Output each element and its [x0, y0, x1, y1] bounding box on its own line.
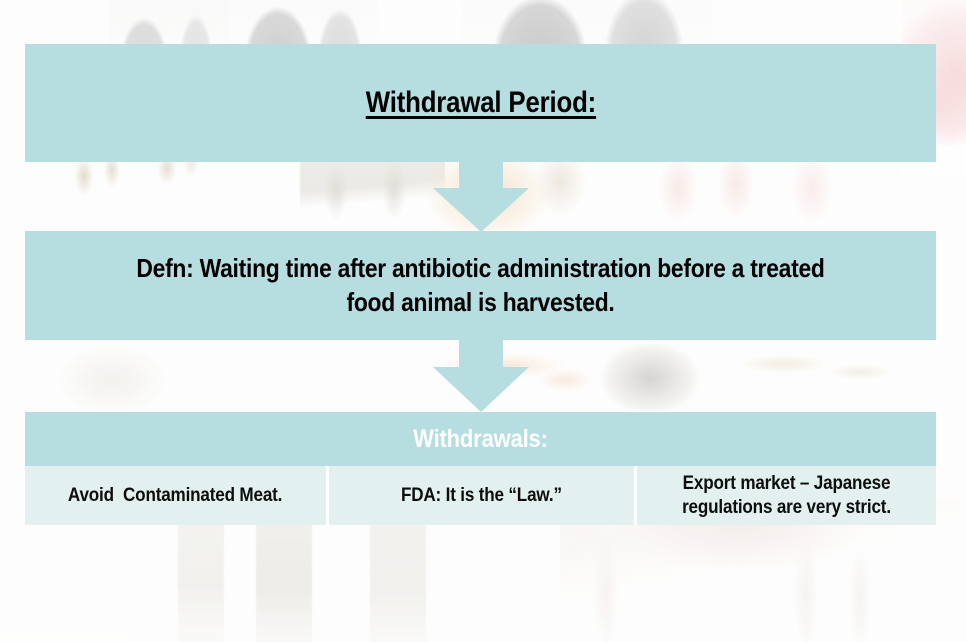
withdrawals-column-export-market: Export market – Japanese regulations are… [637, 466, 936, 525]
slide-canvas: Withdrawal Period: Defn: Waiting time af… [0, 0, 966, 642]
title-box: Withdrawal Period: [25, 44, 936, 162]
withdrawals-header-text: Withdrawals: [413, 425, 548, 454]
withdrawals-header: Withdrawals: [25, 412, 936, 466]
withdrawals-columns: Avoid Contaminated Meat. FDA: It is the … [25, 466, 936, 525]
title-text: Withdrawal Period: [365, 86, 595, 120]
withdrawals-column-avoid-contaminated-meat: Avoid Contaminated Meat. [25, 466, 326, 525]
withdrawals-column-text: FDA: It is the “Law.” [401, 484, 562, 507]
definition-box: Defn: Waiting time after antibiotic admi… [25, 231, 936, 340]
arrow-down-icon [433, 340, 529, 412]
withdrawals-column-text: Export market – Japanese regulations are… [659, 472, 914, 518]
definition-text: Defn: Waiting time after antibiotic admi… [110, 252, 852, 319]
withdrawals-box: Withdrawals: Avoid Contaminated Meat. FD… [25, 412, 936, 525]
arrow-down-icon [433, 162, 529, 232]
withdrawals-column-fda-law: FDA: It is the “Law.” [329, 466, 634, 525]
withdrawals-column-text: Avoid Contaminated Meat. [68, 484, 282, 507]
flow-chart: Withdrawal Period: Defn: Waiting time af… [0, 0, 966, 642]
